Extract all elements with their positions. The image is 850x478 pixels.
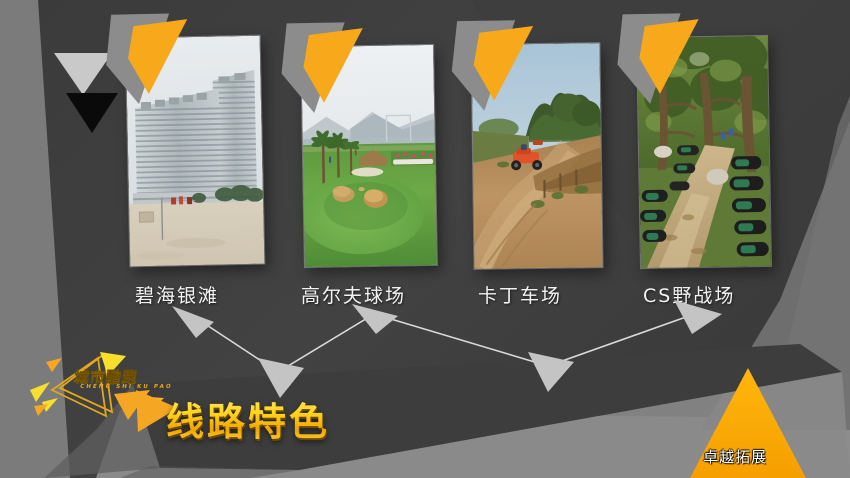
caption-beach: 碧海银滩 [135, 281, 219, 308]
photo-frame [637, 36, 771, 268]
go-kart-dirt-track-photo [471, 43, 602, 269]
beach-resort-towers-photo [126, 36, 265, 267]
caption-kart: 卡丁车场 [478, 281, 562, 308]
down-triangle-dark-icon [66, 93, 118, 137]
cs-woodland-battlefield-photo [637, 36, 771, 268]
photo-card-kart[interactable] [471, 43, 602, 269]
photo-card-cs[interactable] [637, 36, 771, 268]
photo-frame [126, 36, 265, 267]
photo-card-beach[interactable] [126, 36, 265, 267]
slide-canvas: 碧海银滩 高尔夫球场 卡丁车场 CS野战场 城市酷跑 CHENG SHI KU … [0, 0, 850, 478]
logo-shard-2 [30, 382, 50, 402]
photo-card-golf[interactable] [301, 45, 437, 267]
caption-cs: CS野战场 [643, 281, 735, 308]
photo-frame [471, 43, 602, 269]
corner-brand-label: 卓越拓展 [703, 446, 767, 467]
caption-golf: 高尔夫球场 [301, 281, 406, 308]
logo-shard-1 [46, 358, 62, 372]
page-title: 线路特色 [166, 391, 330, 446]
golf-course-photo [301, 45, 437, 267]
photo-frame [301, 45, 437, 267]
